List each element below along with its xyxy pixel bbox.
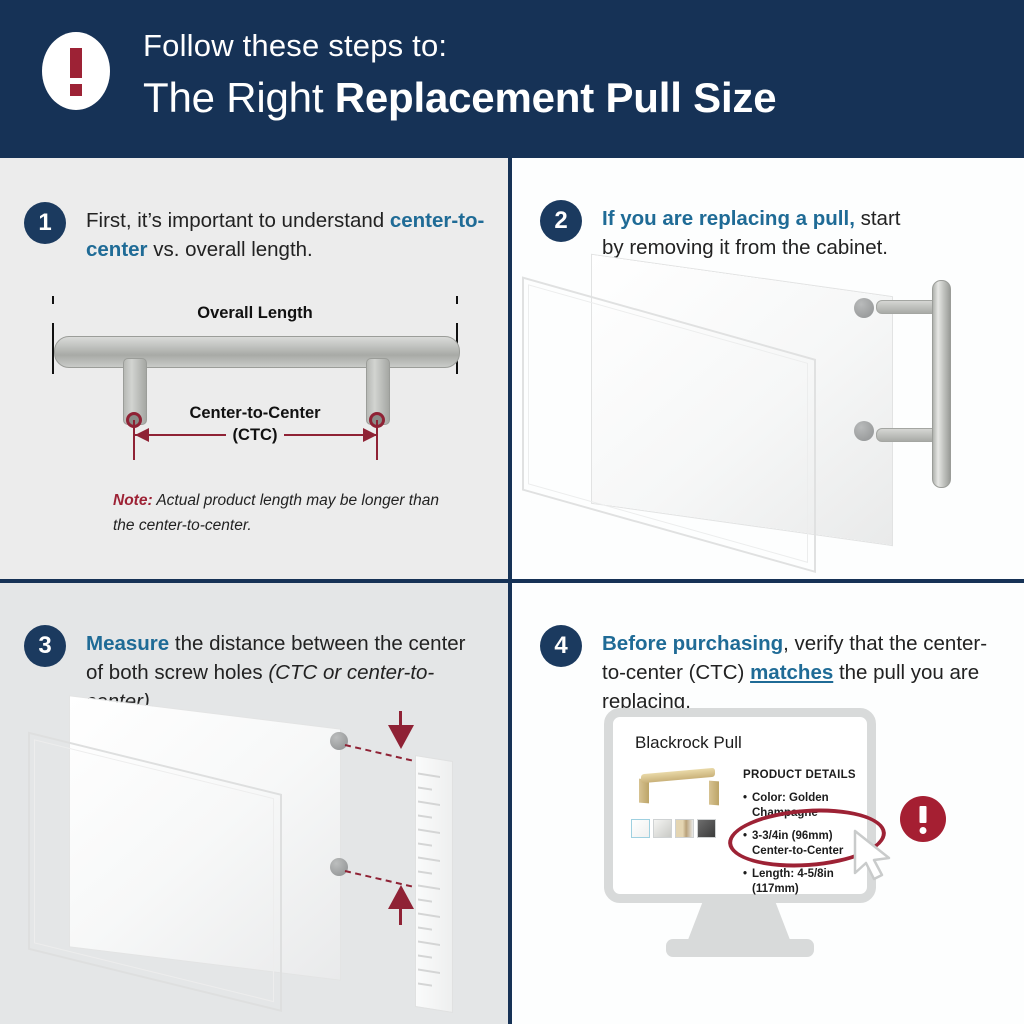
header-eyebrow: Follow these steps to: (143, 28, 447, 64)
thumbnail-strip[interactable] (631, 819, 716, 838)
step-text-2: If you are replacing a pull, start by re… (602, 204, 902, 262)
matches-link[interactable]: matches (750, 661, 833, 684)
step-text-1: First, it’s important to understand cent… (86, 206, 486, 264)
panel-step-2: 2 If you are replacing a pull, start by … (512, 158, 1024, 579)
thumbnail-pull-line-art[interactable] (631, 819, 650, 838)
pull-bar (54, 336, 460, 368)
monitor-screen: Blackrock Pull PRODUCT DETAILS (604, 708, 876, 903)
screw-hole-top (854, 298, 874, 318)
header-banner: Follow these steps to: The Right Replace… (0, 0, 1024, 158)
steps-grid: 1 First, it’s important to understand ce… (0, 158, 1024, 1024)
page-title: The Right Replacement Pull Size (143, 74, 776, 122)
panel-step-4: 4 Before purchasing, verify that the cen… (512, 583, 1024, 1024)
alert-exclamation-icon-panel4 (900, 796, 946, 842)
exclamation-stem (70, 48, 82, 78)
ctc-arrow-left (135, 428, 149, 442)
exclamation-stem-4 (920, 806, 927, 823)
cabinet-door (592, 255, 892, 545)
panel-step-1: 1 First, it’s important to understand ce… (0, 158, 508, 579)
panel1-note: Note: Actual product length may be longe… (113, 488, 453, 538)
screw-hole-top-3 (330, 732, 348, 750)
exclamation-dot (70, 84, 82, 96)
pull-arm-bottom (876, 428, 938, 442)
door-panel-outline-inner (528, 284, 808, 563)
ctc-label: Center-to-Center (100, 404, 410, 423)
monitor-stand-base (666, 939, 814, 957)
product-title: Blackrock Pull (635, 733, 742, 753)
cabinet-with-pull-illustration (592, 258, 1012, 558)
step4-emphasis: Before purchasing (602, 632, 783, 655)
step-badge-4: 4 (540, 625, 582, 667)
step-badge-3: 3 (24, 625, 66, 667)
overall-length-text: Overall Length (189, 304, 321, 322)
note-prefix: Note: (113, 492, 153, 509)
product-pull-bar (641, 768, 715, 783)
overall-length-label: Overall Length (40, 304, 470, 323)
pull-arm-top (876, 300, 938, 314)
measure-arrow-up (388, 885, 414, 909)
title-bold: Replacement Pull Size (335, 74, 777, 121)
thumbnail-dark-finish[interactable] (697, 819, 716, 838)
pull-dimension-diagram: Overall Length Center-to-Center (CTC) (40, 308, 470, 458)
pull-bar-vertical (932, 280, 951, 488)
product-details-heading: PRODUCT DETAILS (743, 769, 856, 781)
thumbnail-cabinet-install[interactable] (675, 819, 694, 838)
step1-part-b: vs. overall length. (148, 238, 313, 261)
screw-hole-bottom-3 (330, 858, 348, 876)
exclamation-dot-4 (920, 827, 927, 834)
screw-hole-bottom (854, 421, 874, 441)
ruler-icon (415, 755, 453, 1013)
step3-emphasis: Measure (86, 632, 169, 655)
vertical-divider (508, 158, 512, 1024)
ctc-arrow-right (363, 428, 377, 442)
step-badge-1: 1 (24, 202, 66, 244)
measuring-illustration (30, 703, 500, 1013)
step1-part-a: First, it’s important to understand (86, 209, 390, 232)
infographic-page: Follow these steps to: The Right Replace… (0, 0, 1024, 1024)
panel-step-3: 3 Measure the distance between the cente… (0, 583, 508, 1024)
measure-arrow-down (388, 725, 414, 749)
thumbnail-packaging[interactable] (653, 819, 672, 838)
product-image (635, 765, 721, 811)
step-badge-2: 2 (540, 200, 582, 242)
step-text-4: Before purchasing, verify that the cente… (602, 629, 1002, 716)
door-panel-outline-inner-3 (34, 739, 274, 1002)
step2-emphasis: If you are replacing a pull, (602, 207, 855, 230)
title-light: The Right (143, 74, 335, 121)
alert-exclamation-icon (42, 32, 110, 110)
product-page-monitor: Blackrock Pull PRODUCT DETAILS (604, 708, 884, 958)
cabinet-door-3 (70, 696, 340, 979)
horizontal-divider (0, 579, 1024, 583)
ctc-abbrev-text: (CTC) (226, 426, 285, 444)
note-text: Actual product length may be longer than… (113, 492, 439, 534)
product-pull-leg-right (709, 781, 719, 806)
arrow-up-stem (399, 909, 402, 925)
